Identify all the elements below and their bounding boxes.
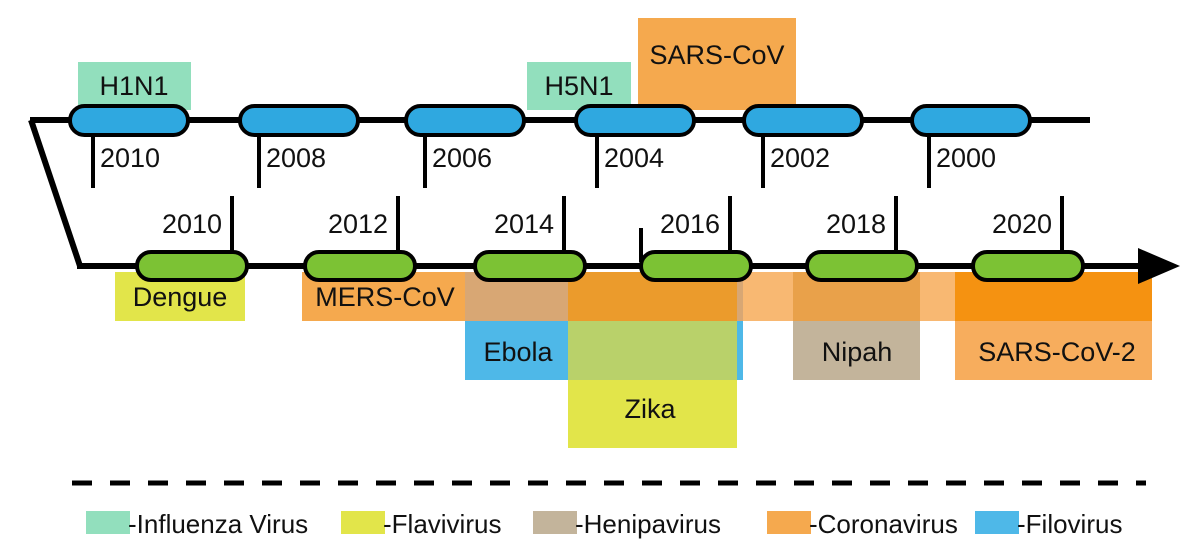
marker-pill-2018-bottom[interactable] <box>807 252 917 280</box>
legend-item-influenza[interactable]: -Influenza Virus <box>86 509 308 539</box>
legend-swatch-influenza <box>86 511 130 534</box>
legend-item-flavivirus[interactable]: -Flavivirus <box>341 509 501 539</box>
bottom-row-year-labels: 2010 2012 2014 2016 2018 2020 <box>162 209 1052 239</box>
legend-item-henipavirus[interactable]: -Henipavirus <box>533 509 721 539</box>
legend-item-coronavirus[interactable]: -Coronavirus <box>767 509 958 539</box>
legend-label-coronavirus: -Coronavirus <box>809 509 958 539</box>
event-label-h1n1: H1N1 <box>99 71 168 101</box>
event-box-ebola-over-zika <box>568 321 737 380</box>
legend-label-filovirus: -Filovirus <box>1017 509 1122 539</box>
year-label-bottom-2010: 2010 <box>162 209 222 239</box>
marker-pill-2020-bottom[interactable] <box>973 252 1083 280</box>
legend-swatch-henipavirus <box>533 511 577 534</box>
event-box-ebola-right-edge <box>737 321 743 380</box>
event-label-dengue: Dengue <box>133 282 228 312</box>
timeline-figure: 2010 2008 2006 2004 2002 2000 2010 2012 … <box>0 0 1194 548</box>
marker-pill-2010[interactable] <box>70 106 188 135</box>
legend-swatch-coronavirus <box>767 511 811 534</box>
axis-connector-diagonal <box>31 120 80 266</box>
legend-swatch-flavivirus <box>341 511 385 534</box>
legend-label-influenza: -Influenza Virus <box>128 509 308 539</box>
year-label-bottom-2016: 2016 <box>660 209 720 239</box>
year-label-bottom-2018: 2018 <box>826 209 886 239</box>
top-row-year-labels: 2010 2008 2006 2004 2002 2000 <box>100 143 996 173</box>
marker-pill-2004[interactable] <box>576 106 694 135</box>
event-label-zika: Zika <box>624 394 676 424</box>
legend: -Influenza Virus -Flavivirus -Henipaviru… <box>72 483 1146 539</box>
marker-pill-2010-bottom[interactable] <box>137 252 247 280</box>
legend-label-henipavirus: -Henipavirus <box>575 509 721 539</box>
timeline-svg: 2010 2008 2006 2004 2002 2000 2010 2012 … <box>0 0 1194 548</box>
marker-pill-2000[interactable] <box>912 106 1030 135</box>
event-label-mers-cov: MERS-CoV <box>315 282 455 312</box>
marker-pill-2012-bottom[interactable] <box>305 252 415 280</box>
event-label-nipah: Nipah <box>822 337 893 367</box>
event-label-sars-cov: SARS-CoV <box>649 40 784 70</box>
year-label-top-2010: 2010 <box>100 143 160 173</box>
year-label-bottom-2012: 2012 <box>328 209 388 239</box>
legend-item-filovirus[interactable]: -Filovirus <box>975 509 1122 539</box>
marker-pill-2006[interactable] <box>406 106 524 135</box>
marker-pill-2016-bottom[interactable] <box>641 252 751 280</box>
marker-pill-2014-bottom[interactable] <box>475 252 585 280</box>
year-label-bottom-2020: 2020 <box>992 209 1052 239</box>
event-box-mers-gap-a <box>743 272 793 321</box>
event-label-ebola: Ebola <box>483 337 553 367</box>
year-label-bottom-2014: 2014 <box>494 209 554 239</box>
marker-pill-2008[interactable] <box>240 106 358 135</box>
event-box-mers-gap-b <box>920 272 955 321</box>
year-label-top-2002: 2002 <box>770 143 830 173</box>
year-label-top-2006: 2006 <box>432 143 492 173</box>
year-label-top-2000: 2000 <box>936 143 996 173</box>
legend-swatch-filovirus <box>975 511 1019 534</box>
marker-pill-2002[interactable] <box>744 106 862 135</box>
event-label-h5n1: H5N1 <box>544 71 613 101</box>
year-label-top-2004: 2004 <box>604 143 664 173</box>
legend-label-flavivirus: -Flavivirus <box>383 509 501 539</box>
event-label-sars-cov-2: SARS-CoV-2 <box>978 337 1136 367</box>
axis-arrowhead <box>1138 248 1180 284</box>
year-label-top-2008: 2008 <box>266 143 326 173</box>
